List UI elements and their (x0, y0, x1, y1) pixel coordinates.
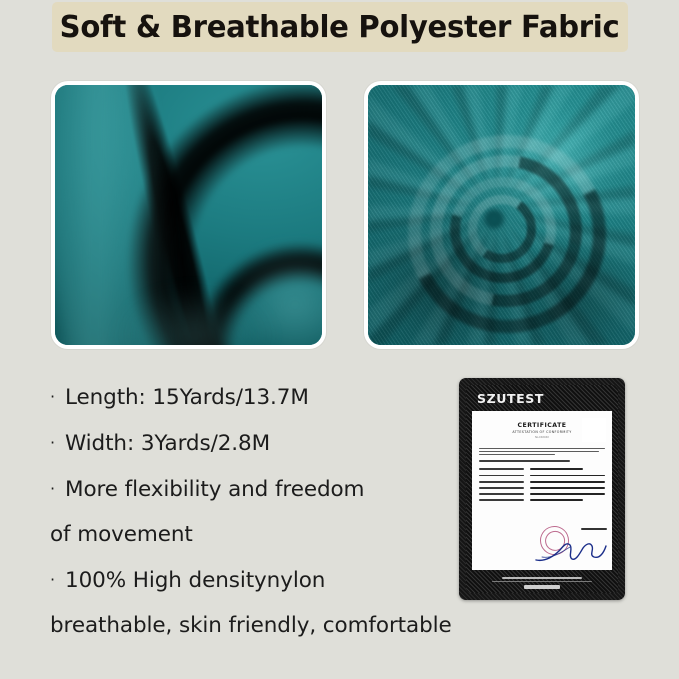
row-value (530, 481, 605, 483)
certificate-signature-area (534, 526, 608, 566)
signature-icon (534, 540, 608, 564)
certificate-header: SZUTEST (466, 385, 618, 411)
list-item: ·100% High densitynylon (50, 557, 470, 603)
list-item-continuation: of movement (50, 512, 470, 557)
list-item-text: of movement (50, 522, 193, 547)
certificate-image: SZUTEST CERTIFICATE ATTESTATION OF CONFO… (459, 378, 625, 600)
page-title: Soft & Breathable Polyester Fabric (60, 10, 620, 45)
certificate-footer (466, 570, 618, 593)
certificate-directive-line (479, 460, 570, 462)
row-value (530, 487, 605, 489)
list-item-text: Width: 3Yards/2.8M (65, 431, 270, 456)
row-label (479, 468, 524, 470)
row-value (530, 475, 605, 477)
text-line (479, 451, 599, 453)
fabric-swirl-center (406, 133, 582, 309)
list-item-text: More flexibility and freedom (65, 477, 364, 502)
row-label (479, 475, 524, 477)
qr-code-icon (582, 418, 606, 442)
bullet-icon: · (50, 374, 65, 419)
swirled-knit-photo (368, 85, 635, 345)
table-row (479, 487, 605, 489)
table-row (479, 475, 605, 477)
fabric-sheen (95, 275, 295, 345)
table-row (479, 499, 605, 501)
bullet-icon: · (50, 466, 65, 511)
bullet-icon: · (50, 420, 65, 465)
signatory-title-line (581, 528, 607, 530)
list-item: ·Length: 15Yards/13.7M (50, 374, 470, 420)
row-label (479, 481, 524, 483)
swirled-knit-image (368, 85, 635, 345)
table-row (479, 468, 605, 470)
list-item-text: breathable, skin friendly, comfortable (50, 613, 452, 638)
list-item: ·More flexibility and freedom (50, 466, 470, 512)
row-label (479, 493, 524, 495)
certificate-document: CERTIFICATE ATTESTATION OF CONFORMITY No… (472, 411, 612, 570)
certificate-body-paragraph (479, 448, 605, 456)
row-value (530, 499, 583, 501)
row-label (479, 499, 524, 501)
row-value (530, 468, 583, 470)
footer-line (492, 581, 592, 582)
list-item-text: Length: 15Yards/13.7M (65, 385, 309, 410)
satin-drape-image (55, 85, 322, 345)
table-row (479, 493, 605, 495)
header-banner: Soft & Breathable Polyester Fabric (52, 2, 628, 52)
certificate-detail-rows (479, 468, 605, 500)
row-label (479, 487, 524, 489)
certificate-brand-label: SZUTEST (477, 391, 544, 406)
row-value (530, 493, 605, 495)
swirl-core (482, 207, 506, 231)
text-line (479, 448, 605, 450)
list-item-text: 100% High densitynylon (65, 568, 325, 593)
text-line (479, 454, 555, 456)
feature-list: ·Length: 15Yards/13.7M ·Width: 3Yards/2.… (50, 374, 470, 648)
footer-tab (524, 585, 560, 589)
footer-line (502, 577, 581, 579)
list-item-continuation: breathable, skin friendly, comfortable (50, 603, 470, 648)
list-item: ·Width: 3Yards/2.8M (50, 420, 470, 466)
bullet-icon: · (50, 557, 65, 602)
table-row (479, 481, 605, 483)
satin-drape-photo (55, 85, 322, 345)
certificate-frame: SZUTEST CERTIFICATE ATTESTATION OF CONFO… (466, 385, 618, 593)
